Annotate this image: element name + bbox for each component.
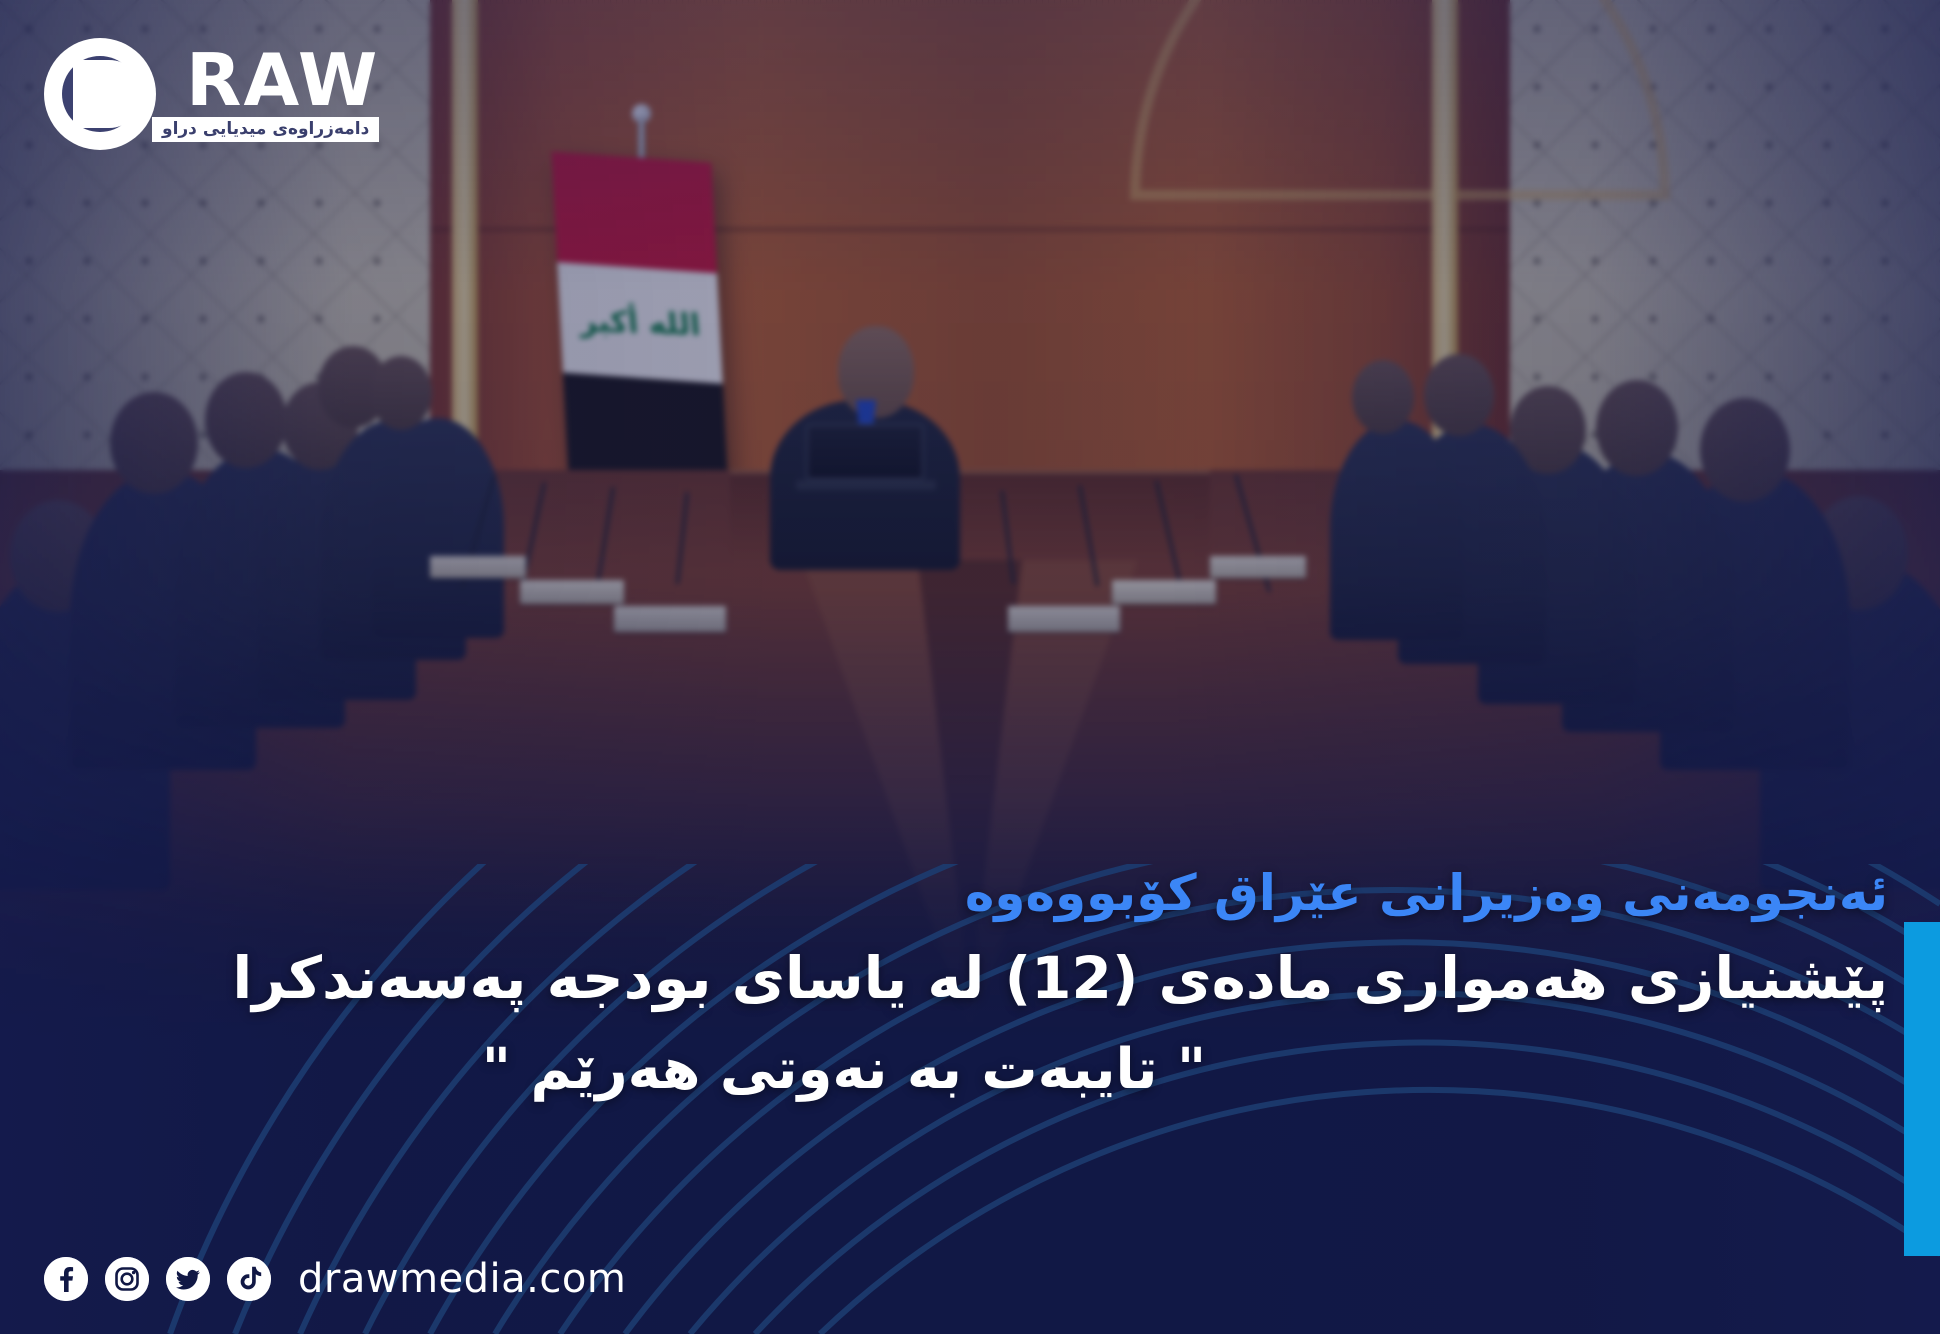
logo-wordmark: RAW دامەزراوەی میدیایی دراو xyxy=(152,46,379,142)
logo-d-shape xyxy=(73,60,143,128)
headline-subtitle: " تایبەت بە نەوتی هەرێم " xyxy=(50,1031,1888,1109)
headline-main: پێشنیازی هەمواری مادەی (12) لە یاسای بود… xyxy=(50,938,1888,1019)
logo-tagline: دامەزراوەی میدیایی دراو xyxy=(152,117,379,142)
headline-block: ئەنجومەنی وەزیرانی عێراق کۆبووەوە پێشنیا… xyxy=(50,860,1888,1110)
facebook-icon[interactable] xyxy=(44,1257,88,1301)
website-url[interactable]: drawmedia.com xyxy=(298,1256,626,1302)
tiktok-icon[interactable] xyxy=(227,1257,271,1301)
draw-circle-d-logo-icon xyxy=(44,38,156,150)
news-card: الله أكبر xyxy=(0,0,1940,1334)
twitter-icon[interactable] xyxy=(166,1257,210,1301)
instagram-icon[interactable] xyxy=(105,1257,149,1301)
draw-logo[interactable]: RAW دامەزراوەی میدیایی دراو xyxy=(44,38,379,150)
logo-raw-text: RAW xyxy=(186,46,379,114)
edge-vignette-overlay xyxy=(0,0,1940,1334)
footer-bar: drawmedia.com xyxy=(44,1256,626,1302)
cyan-accent-bar xyxy=(1904,922,1940,1256)
headline-kicker: ئەنجومەنی وەزیرانی عێراق کۆبووەوە xyxy=(50,860,1888,926)
